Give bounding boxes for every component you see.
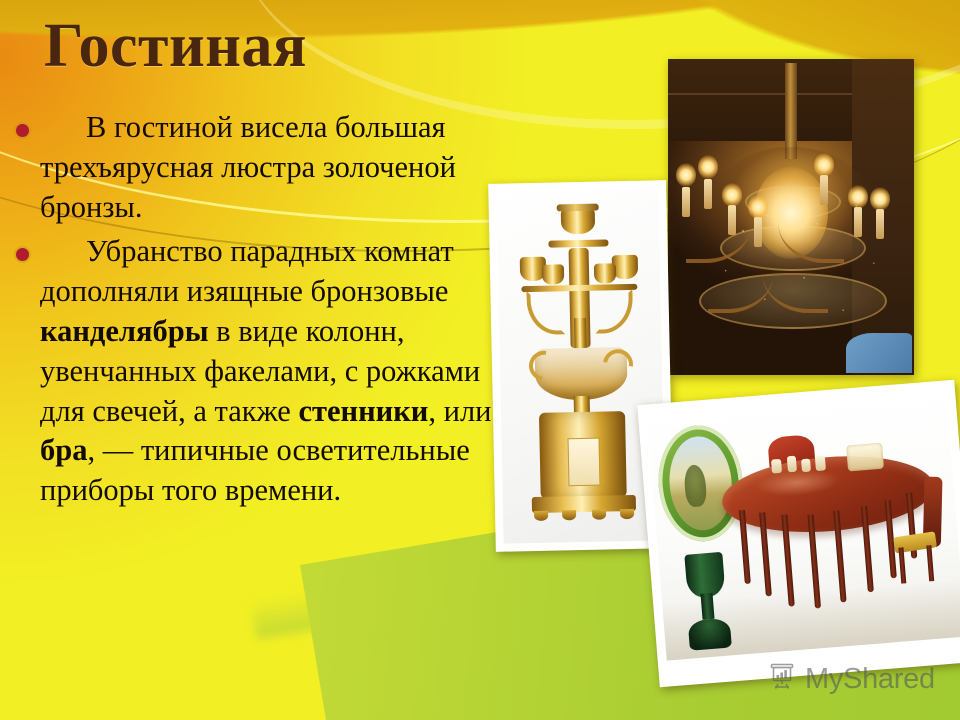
dining-chair-right <box>887 476 947 584</box>
table-object <box>801 459 811 473</box>
presentation-screen-icon <box>768 662 798 697</box>
candelabra-photo-inner <box>496 188 665 543</box>
chandelier-candle <box>754 217 762 247</box>
bullet-item: В гостиной висела большая трехъярусная л… <box>8 108 500 227</box>
dining-room-photo-inner <box>647 389 960 660</box>
presentation-slide: Гостиная В гостиной висела большая трехъ… <box>0 0 960 720</box>
vase-cup <box>684 552 725 599</box>
table-object <box>815 455 826 471</box>
oval-painting-canvas <box>666 434 735 533</box>
chandelier-photo <box>668 59 914 375</box>
bullet-item: Убранство парадных комнат дополняли изящ… <box>8 232 500 511</box>
chandelier-flame-icon <box>698 155 718 179</box>
vase-base <box>688 617 732 650</box>
bullet-item-text: Убранство парадных комнат дополняли изящ… <box>40 232 500 511</box>
candelabra-marble-bowl <box>535 347 628 401</box>
chandelier-flame-icon <box>848 185 868 209</box>
page-title: Гостиная <box>44 14 307 79</box>
vase-stem <box>700 593 714 620</box>
chandelier-flame-icon <box>870 187 890 211</box>
chandelier-candle <box>728 205 736 235</box>
chandelier-flame-icon <box>814 153 834 177</box>
watermark: MyShared <box>768 662 935 697</box>
chandelier-candle <box>820 175 828 205</box>
green-vase <box>682 552 732 651</box>
candelabra-top-plate <box>548 239 608 247</box>
chandelier-flame-icon <box>722 183 742 207</box>
chair-leg <box>926 545 934 581</box>
candelabra-top-cup <box>561 208 596 235</box>
candelabra-feet <box>532 509 636 521</box>
chandelier-blue-reflection <box>846 333 912 373</box>
slide-body-text: В гостиной висела большая трехъярусная л… <box>8 108 500 516</box>
chandelier-candle <box>682 187 690 217</box>
chandelier-candle <box>704 179 712 209</box>
chandelier-candle <box>876 209 884 239</box>
table-glass-container <box>846 443 884 472</box>
chandelier-stem <box>785 63 797 159</box>
candelabra-socket <box>542 264 564 284</box>
chandelier-candle <box>854 207 862 237</box>
candelabra-scroll-arm <box>594 289 633 334</box>
table-object <box>771 459 782 474</box>
candelabra-socket <box>594 263 616 283</box>
bullet-marker-icon <box>16 124 29 137</box>
candelabra-scroll-arm <box>526 290 565 335</box>
chandelier-flame-icon <box>748 195 768 219</box>
table-object <box>787 456 797 473</box>
bullet-item-text: В гостиной висела большая трехъярусная л… <box>40 108 500 227</box>
chandelier-flame-icon <box>676 163 696 187</box>
candelabra-pedestal-panel <box>568 438 601 487</box>
bullet-marker-icon <box>16 248 29 261</box>
watermark-label: MyShared <box>805 663 935 696</box>
dining-room-photo <box>637 380 960 688</box>
candelabra-pedestal <box>539 411 627 499</box>
chair-leg <box>898 547 906 583</box>
